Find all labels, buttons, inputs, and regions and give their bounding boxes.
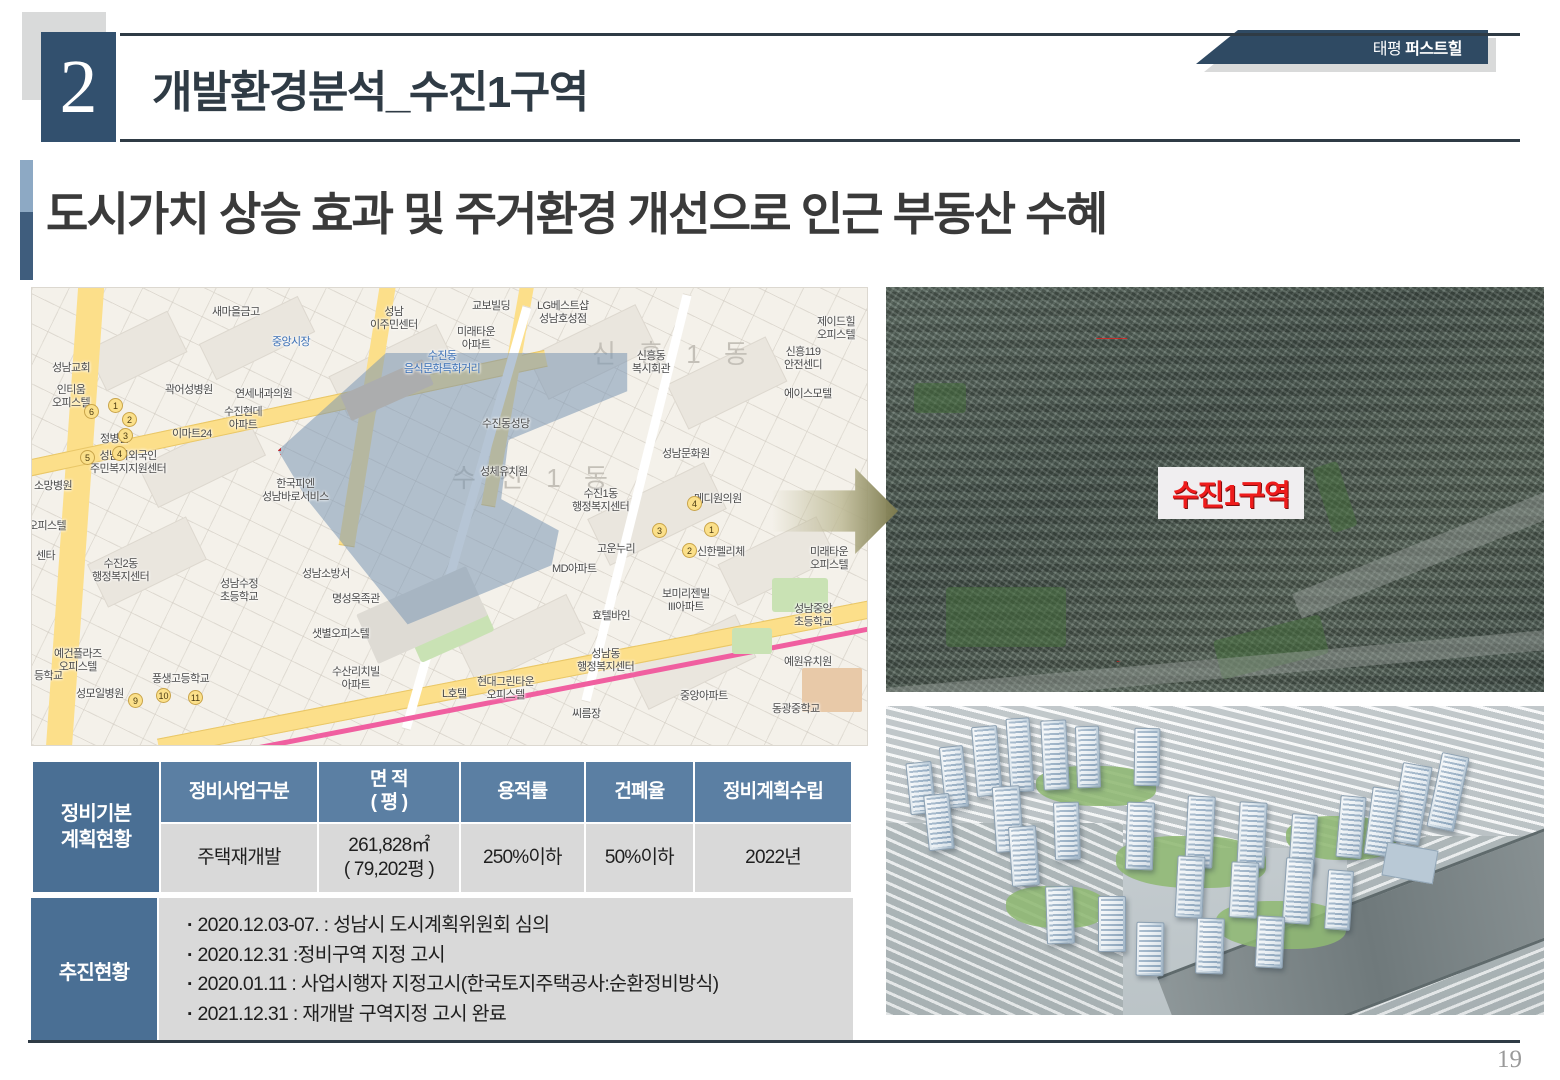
map-label: 수진동성당 [482,418,530,431]
map-pin-2b[interactable]: 2 [682,543,697,558]
rendering-tower [1229,861,1260,918]
rendering-tower [1075,726,1101,789]
map-label: 소망병원 [34,480,72,493]
map-label: 인티움오피스텔 [52,384,90,409]
map-label: 미래타운오피스텔 [810,546,848,571]
map-label: 제이드힐오피스텔 [817,316,855,341]
aerial-site-label: 수진1구역 [1158,467,1304,519]
location-map: 수진역 신 흥 1 동 수 진 1 동 성남교회 인티움오피스텔 정병원 성남시… [31,287,868,746]
map-pin-5[interactable]: 5 [80,450,95,465]
list-item: 2020.12.31 :정비구역 지정 고시 [187,941,853,971]
list-item: 2020.01.11 : 사업시행자 지정고시(한국토지주택공사:순환정비방식) [187,970,853,1000]
section-number-badge: 2 [41,32,116,142]
map-label: 성남문화원 [662,448,710,461]
map-label: 명성옥족관 [332,593,380,606]
map-label: 수진1동행정복지센터 [572,488,629,513]
map-label: 중앙시장 [272,336,310,349]
map-label: 오피스텔 [31,520,66,533]
map-label: 성남교회 [52,362,90,375]
list-item: 2021.12.31 : 재개발 구역지정 고시 완료 [187,1000,853,1030]
map-pin-1[interactable]: 1 [108,398,123,413]
map-label: 에이스모텔 [784,388,832,401]
subtitle: 도시가치 상승 효과 및 주거환경 개선으로 인근 부동산 수혜 [46,178,1106,244]
rendering-tower [1005,717,1034,792]
cell-plan-year: 2022년 [695,824,851,892]
map-label: 성남시외국인주민복지지원센터 [90,450,166,475]
header-project-type: 정비사업구분 [161,762,317,822]
plan-table-row-label: 정비기본 계획현황 [33,762,159,892]
subtitle-accent-bar-top [20,160,33,212]
progress-label: 추진현황 [31,898,157,1043]
map-label: 성남소방서 [302,568,350,581]
rendering-tower [1255,915,1286,968]
map-label: 보미리젠빌III아파트 [662,588,710,613]
map-label: 성남중앙초등학교 [794,603,832,628]
development-rendering [886,706,1544,1015]
title-rule-bottom [120,139,1520,142]
plan-table-row-label-l1: 정비기본 [61,803,131,825]
map-label: 한국피엔성남바로서비스 [262,478,329,503]
map-label: 샛별오피스텔 [312,628,369,641]
map-label: 동광중학교 [772,703,820,716]
map-label: MD아파트 [552,563,596,576]
map-pin-4[interactable]: 4 [112,446,127,461]
aerial-photo: 수진1구역 [886,287,1544,692]
map-pin-1b[interactable]: 1 [704,522,719,537]
map-pin-3b[interactable]: 3 [652,523,667,538]
map-pin-2[interactable]: 2 [122,412,137,427]
map-pin-11[interactable]: 11 [188,690,203,705]
map-label: 성남이주민센터 [370,306,418,331]
page-number: 19 [1497,1046,1522,1074]
map-pin-10[interactable]: 10 [156,688,171,703]
map-label: 풍생고등학교 [152,673,209,686]
rendering-tower [1282,857,1315,925]
map-label: 중앙아파트 [680,690,728,703]
map-label: 성모일병원 [76,688,124,701]
map-label: 수진현데아파트 [224,406,262,431]
cell-bcr: 50%이하 [586,824,693,892]
list-item: 2020.12.03-07. : 성남시 도시계획위원회 심의 [187,911,853,941]
header-area: 면 적( 평 ) [319,762,459,822]
aerial-green [946,587,1066,647]
header-far: 용적률 [461,762,584,822]
map-label: 이마트24 [172,428,212,441]
map-label: 수진동음식문화특화거리 [404,350,480,375]
map-label: 신흥119안전센디 [784,346,822,371]
footer-rule [28,1040,1520,1043]
header-plan-year: 정비계획수립 [695,762,851,822]
map-pin-3[interactable]: 3 [118,428,133,443]
rendering-tower [1136,922,1165,976]
map-green-area [732,628,772,654]
rendering-tower [1098,896,1126,952]
map-label: 미래타운아파트 [457,326,495,351]
map-label: LG베스트샵성남호성점 [537,300,589,325]
page-title: 개발환경분석_수진1구역 [152,56,588,120]
rendering-tower [1040,719,1070,790]
map-label: 연세내과의원 [235,388,292,401]
map-label: 고운누리 [597,543,635,556]
map-label: 센타 [36,550,55,563]
section-number-text: 2 [60,49,98,125]
cell-far: 250%이하 [461,824,584,892]
cell-project-type: 주택재개발 [161,824,317,892]
rendering-tower [1008,825,1040,887]
progress-list: 2020.12.03-07. : 성남시 도시계획위원회 심의 2020.12.… [159,898,853,1043]
rendering-tower [1236,801,1267,868]
map-label: 성남동행정복지센터 [577,648,634,673]
map-label: 교보빌딩 [472,300,510,313]
map-label: L호텔 [442,688,467,701]
map-label: 예원유치원 [784,656,832,669]
table-header-row: 정비기본 계획현황 정비사업구분 면 적( 평 ) 용적률 건폐율 정비계획수립 [33,762,851,822]
map-label: 등학교 [34,670,63,683]
header-bcr: 건폐율 [586,762,693,822]
progress-section: 추진현황 2020.12.03-07. : 성남시 도시계획위원회 심의 202… [31,898,853,1043]
map-label: 현대그린타운오피스텔 [477,676,534,701]
map-label: 신흥동복시회관 [632,350,670,375]
map-label: 씨름장 [572,708,601,721]
aerial-green [914,383,966,413]
map-pin-9[interactable]: 9 [128,693,143,708]
cell-area: 261,828㎡( 79,202평 ) [319,824,459,892]
rendering-tower [1324,869,1354,931]
map-pin-4b[interactable]: 4 [687,496,702,511]
map-label: 새마을금고 [212,306,260,319]
map-label: 효텔바인 [592,610,630,623]
rendering-tower [1195,918,1225,975]
rendering-tower [1133,728,1160,786]
rendering-tower [1053,802,1081,861]
map-label: 성체유치원 [480,466,528,479]
title-rule-top [120,33,1520,36]
brand-light: 태평 [1373,41,1405,58]
map-label: 수산리치빌아파트 [332,666,380,691]
map-label: 곽어성병원 [165,384,213,397]
brand-bold: 퍼스트힐 [1405,41,1462,58]
map-label: 수진2동행정복지센터 [92,558,149,583]
map-label: 성남수정초등학교 [220,578,258,603]
rendering-tower [1125,802,1155,871]
rendering-tower [1335,795,1366,859]
brand-logo-text: 태평 퍼스트힐 [1373,35,1462,59]
slide: 태평 퍼스트힐 2 개발환경분석_수진1구역 도시가치 상승 효과 및 주거환경… [0,0,1560,1080]
map-label: 신한펠리체 [697,546,745,559]
plan-table: 정비기본 계획현황 정비사업구분 면 적( 평 ) 용적률 건폐율 정비계획수립… [31,760,853,894]
map-pin-6[interactable]: 6 [84,404,99,419]
rendering-tower [1045,886,1075,945]
rendering-tower [1174,855,1205,918]
subtitle-accent-bar-bottom [20,212,33,280]
plan-table-row-label-l2: 계획현황 [61,829,131,851]
